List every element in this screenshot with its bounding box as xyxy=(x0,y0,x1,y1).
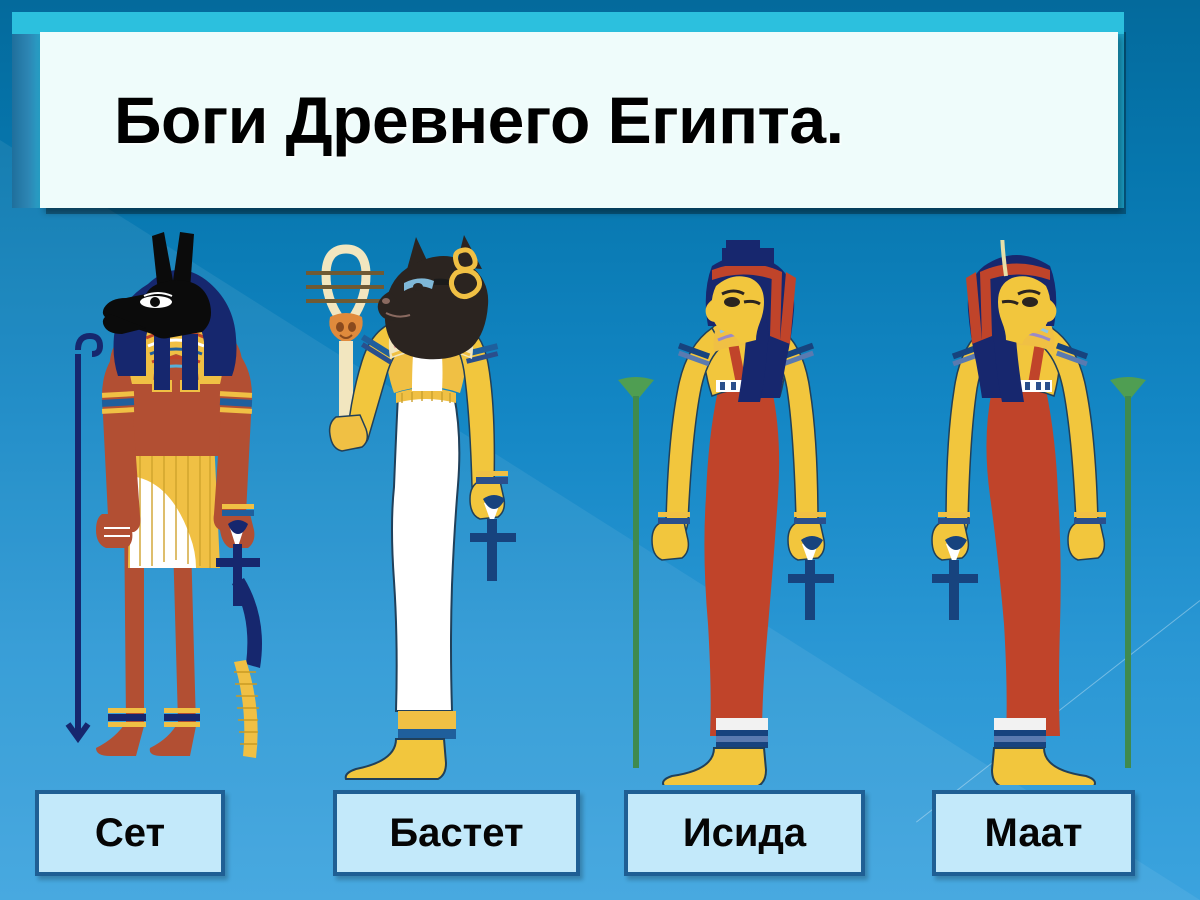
papyrus-staff-icon xyxy=(1110,377,1146,768)
anklet-bands xyxy=(108,708,200,727)
page-title: Боги Древнего Египта. xyxy=(114,82,843,158)
label-box-bastet[interactable]: Бастет xyxy=(333,790,580,876)
dress xyxy=(704,390,779,736)
label-box-set[interactable]: Сет xyxy=(35,790,225,876)
title-box: Боги Древнего Египта. xyxy=(40,32,1118,208)
kilt xyxy=(128,438,220,568)
god-figure-maat xyxy=(910,240,1180,785)
throne-crown-icon xyxy=(722,240,774,266)
was-scepter-icon xyxy=(68,336,100,738)
wristlet xyxy=(222,504,254,516)
god-figure-isis xyxy=(600,240,870,785)
dress xyxy=(986,390,1060,736)
god-figure-bastet xyxy=(290,235,560,780)
cat-head-icon xyxy=(378,235,488,359)
title-box-bevel-left xyxy=(12,12,42,208)
sheath-dress xyxy=(392,388,459,711)
set-animal-head-icon xyxy=(103,232,211,339)
papyrus-staff-icon xyxy=(618,377,654,768)
label-box-isis[interactable]: Исида xyxy=(624,790,865,876)
feet xyxy=(346,711,456,779)
title-box-bevel-top xyxy=(12,12,1124,34)
label-box-maat[interactable]: Маат xyxy=(932,790,1135,876)
label-text-isis: Исида xyxy=(683,811,806,856)
feet xyxy=(992,718,1095,785)
label-text-bastet: Бастет xyxy=(389,811,523,856)
label-text-maat: Маат xyxy=(985,811,1083,856)
label-text-set: Сет xyxy=(95,811,165,856)
slide-canvas: Боги Древнего Египта. xyxy=(0,0,1200,900)
god-figure-set xyxy=(48,228,298,778)
